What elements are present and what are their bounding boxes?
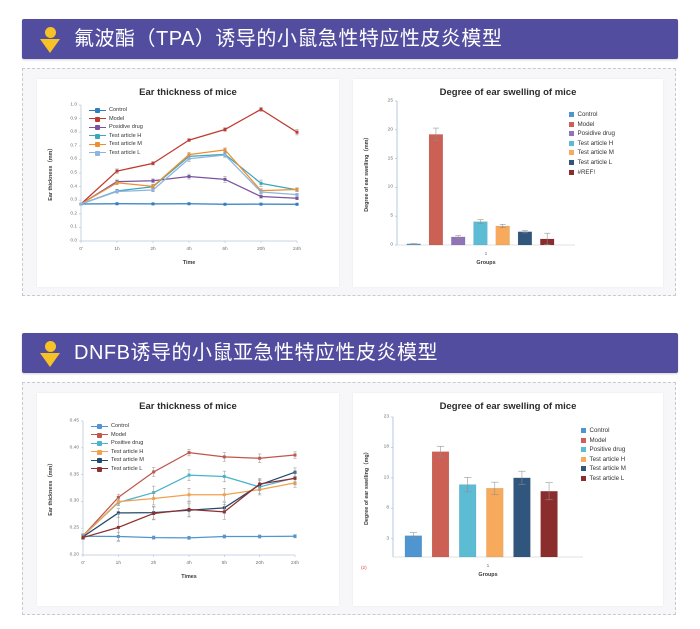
line-plot [37,79,339,287]
legend-line-marker-icon [89,110,106,111]
legend-label: Model [111,432,126,438]
legend-label: Posidive drug [109,124,143,130]
x-tick-label: 1 [485,252,488,257]
legend-item[interactable]: Test article L [581,475,626,482]
page-root: 氟波酯（TPA）诱导的小鼠急性特应性皮炎模型 Ear thickness of … [0,0,700,629]
section-banner-2: DNFB诱导的小鼠亚急性特应性皮炎模型 [22,333,678,373]
legend-line-marker-icon [89,118,106,119]
legend-item[interactable]: Control [89,107,143,113]
chart-legend: ControlModelPositive drugTest article HT… [581,427,626,485]
legend-label: Test article H [111,449,143,455]
legend-label: Positive drug [590,446,626,453]
legend-item[interactable]: Posidive drug [89,124,143,130]
legend-swatch-icon [569,141,574,146]
chart-card-bar-bottom: Degree of ear swelling of miceDegree of … [353,393,663,606]
legend-line-marker-icon [91,451,108,452]
section-banner-1: 氟波酯（TPA）诱导的小鼠急性特应性皮炎模型 [22,19,678,59]
legend-item[interactable]: Model [89,116,143,122]
legend-item[interactable]: Control [91,423,144,429]
legend-label: Model [578,121,595,128]
legend-swatch-icon [581,447,586,452]
legend-label: Test article H [578,140,614,147]
legend-item[interactable]: Test article L [569,159,615,166]
legend-label: Control [111,423,129,429]
legend-label: Test article L [111,466,142,472]
legend-label: Test article M [111,457,144,463]
legend-label: Positive drug [111,440,143,446]
section-title-2: DNFB诱导的小鼠亚急性特应性皮炎模型 [74,343,438,363]
chart-card-line-top: Ear thickness of miceEar thickness（mm）Ti… [37,79,339,287]
legend-item[interactable]: Test article M [89,141,143,147]
legend-line-marker-icon [89,127,106,128]
legend-item[interactable]: Test article M [569,149,615,156]
line-chart-ear-thickness-acute: Ear thickness of miceEar thickness（mm）Ti… [37,79,339,287]
legend-swatch-icon [581,428,586,433]
legend-item[interactable]: #REF! [569,169,615,176]
chart-card-bar-top: Degree of ear swelling of miceDegree of … [353,79,663,287]
legend-line-marker-icon [91,460,108,461]
legend-label: Test article H [590,456,626,463]
legend-item[interactable]: Test article L [91,466,144,472]
legend-label: Test article M [109,141,142,147]
legend-label: Model [590,437,607,444]
legend-label: Test article M [578,149,614,156]
legend-item[interactable]: Test article M [91,457,144,463]
legend-item[interactable]: Test article L [89,150,143,156]
x-tick-label: 1 [487,564,490,569]
legend-swatch-icon [581,457,586,462]
legend-item[interactable]: Test article M [581,465,626,472]
legend-item[interactable]: Control [569,111,615,118]
charts-panel-2: Ear thickness of miceEar thickness（mm）Ti… [22,382,676,615]
legend-label: Test article M [590,465,626,472]
legend-line-marker-icon [91,443,108,444]
bar-chart-ear-swelling-acute: Degree of ear swelling of miceDegree of … [353,79,663,287]
bar-chart-ear-swelling-subacute: Degree of ear swelling of miceDegree of … [353,393,663,606]
legend-item[interactable]: Test article H [91,449,144,455]
legend-swatch-icon [581,476,586,481]
legend-swatch-icon [581,438,586,443]
legend-label: Control [578,111,598,118]
chart-legend: ControlModelPositive drugTest article HT… [91,423,144,475]
legend-swatch-icon [569,131,574,136]
legend-label: Test article H [109,133,141,139]
legend-item[interactable]: Positive drug [581,446,626,453]
legend-line-marker-icon [89,135,106,136]
axis-note: (2) [361,565,367,570]
legend-label: Control [109,107,127,113]
legend-swatch-icon [569,122,574,127]
legend-label: Test article L [109,150,140,156]
x-axis-title: Groups [397,260,575,266]
legend-line-marker-icon [89,144,106,145]
legend-swatch-icon [569,112,574,117]
chart-card-line-bottom: Ear thickness of miceEar thickness（mm）Ti… [37,393,339,606]
legend-item[interactable]: Test article H [569,140,615,147]
chart-legend: ControlModelPosidive drugTest article HT… [569,111,615,178]
legend-swatch-icon [569,170,574,175]
legend-line-marker-icon [91,426,108,427]
legend-swatch-icon [581,466,586,471]
charts-panel-1: Ear thickness of miceEar thickness（mm）Ti… [22,68,676,296]
legend-item[interactable]: Test article H [89,133,143,139]
x-axis-title: Groups [393,572,583,578]
line-plot [37,393,339,606]
bar-plot [353,79,663,287]
legend-label: Test article L [590,475,625,482]
section-title-1: 氟波酯（TPA）诱导的小鼠急性特应性皮炎模型 [74,29,502,49]
line-chart-ear-thickness-subacute: Ear thickness of miceEar thickness（mm）Ti… [37,393,339,606]
award-badge-icon [36,338,66,368]
legend-label: #REF! [578,169,596,176]
legend-item[interactable]: Posidive drug [569,130,615,137]
legend-item[interactable]: Model [569,121,615,128]
legend-line-marker-icon [91,468,108,469]
legend-item[interactable]: Test article H [581,456,626,463]
award-badge-icon [36,24,66,54]
legend-item[interactable]: Model [91,432,144,438]
legend-item[interactable]: Model [581,437,626,444]
legend-swatch-icon [569,160,574,165]
legend-label: Control [590,427,610,434]
legend-line-marker-icon [89,152,106,153]
legend-label: Test article L [578,159,613,166]
legend-swatch-icon [569,150,574,155]
legend-line-marker-icon [91,434,108,435]
legend-label: Posidive drug [578,130,616,137]
legend-item[interactable]: Positive drug [91,440,144,446]
legend-item[interactable]: Control [581,427,626,434]
chart-legend: ControlModelPosidive drugTest article HT… [89,107,143,159]
legend-label: Model [109,116,124,122]
